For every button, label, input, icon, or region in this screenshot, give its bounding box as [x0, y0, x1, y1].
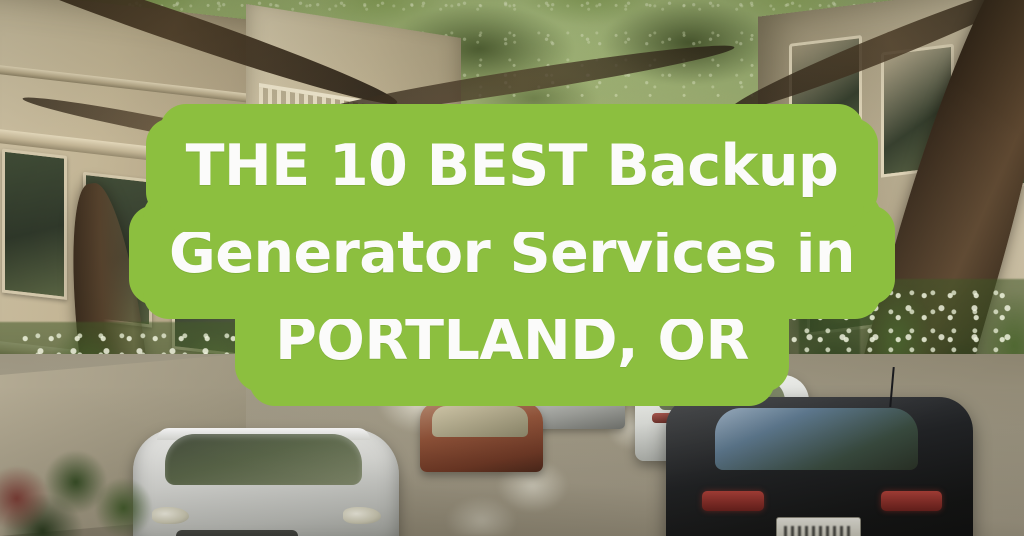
title-line-1: THE 10 BEST Backup	[146, 118, 879, 218]
red-car	[420, 402, 543, 472]
white-sedan-foreground	[133, 429, 399, 536]
license-plate	[776, 517, 861, 536]
black-sedan-right	[666, 397, 973, 536]
title-line-1-text: THE 10 BEST Backup	[186, 133, 839, 199]
banner-title: THE 10 BEST Backup Generator Services in…	[0, 118, 1024, 392]
foreground-plants	[0, 440, 164, 536]
banner-image: THE 10 BEST Backup Generator Services in…	[0, 0, 1024, 536]
